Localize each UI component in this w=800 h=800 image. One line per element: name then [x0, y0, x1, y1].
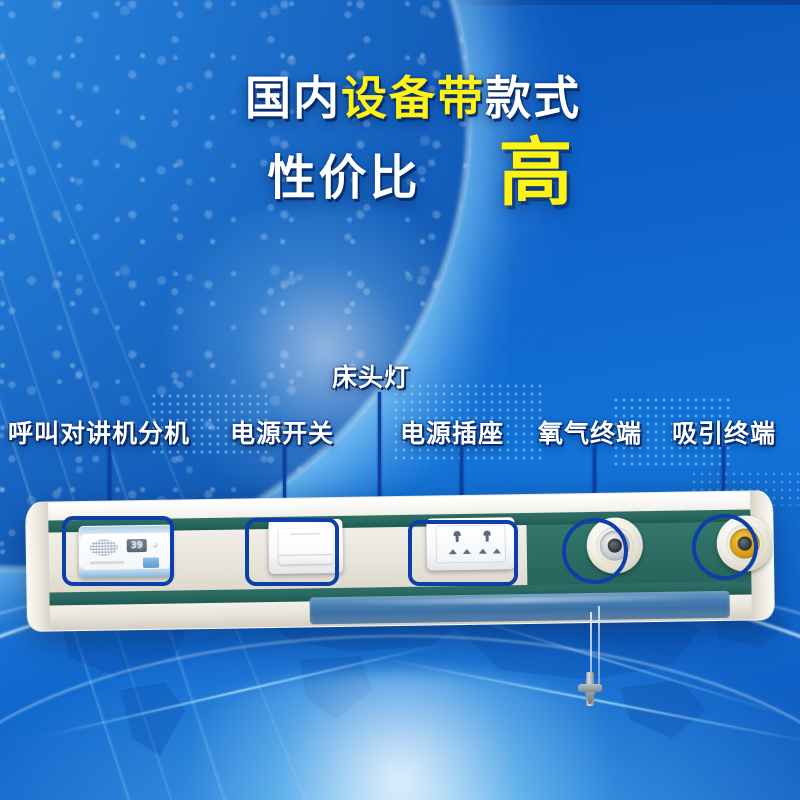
intercom-slot: [90, 561, 124, 565]
intercom-call-button[interactable]: [143, 557, 159, 568]
intercom-faceplate: 39: [83, 533, 170, 570]
panel-endcap-left: [26, 503, 50, 632]
power-socket[interactable]: [426, 517, 515, 570]
socket-pin-slot: [463, 549, 471, 554]
nurse-call-intercom[interactable]: 39: [78, 525, 173, 578]
power-switch[interactable]: [268, 519, 343, 574]
speaker-grille-icon: [90, 539, 118, 555]
socket-pin-slot: [486, 534, 489, 542]
callout-label-power-socket: 电源插座: [400, 414, 504, 450]
product-banner: 国内设备带款式 性价比 高 呼叫对讲机分机 电源开关 床头灯 电源插座 氧气终端…: [0, 0, 800, 800]
suction-probe-collar: [578, 684, 602, 692]
socket-pin-slot: [456, 534, 459, 542]
suction-hose-cord-2: [598, 606, 600, 684]
socket-pin-slot: [493, 548, 501, 553]
callout-label-oxygen: 氧气终端: [538, 414, 642, 450]
callout-label-suction: 吸引终端: [672, 414, 776, 450]
suction-port-core[interactable]: [738, 536, 752, 550]
panel-body: 39: [25, 490, 775, 632]
bed-head-unit-panel: 39: [25, 490, 775, 632]
socket-pin-slot: [479, 549, 487, 554]
callout-label-bed-lamp: 床头灯: [332, 358, 410, 394]
switch-rocker[interactable]: [278, 528, 333, 565]
intercom-display: 39: [127, 539, 147, 552]
socket-faceplate: [435, 524, 506, 563]
status-led-icon: [153, 543, 158, 548]
oxygen-port-core[interactable]: [608, 539, 622, 553]
socket-pin-slot: [449, 549, 457, 554]
callout-label-intercom: 呼叫对讲机分机: [8, 414, 190, 450]
callout-label-power-switch: 电源开关: [230, 414, 334, 450]
